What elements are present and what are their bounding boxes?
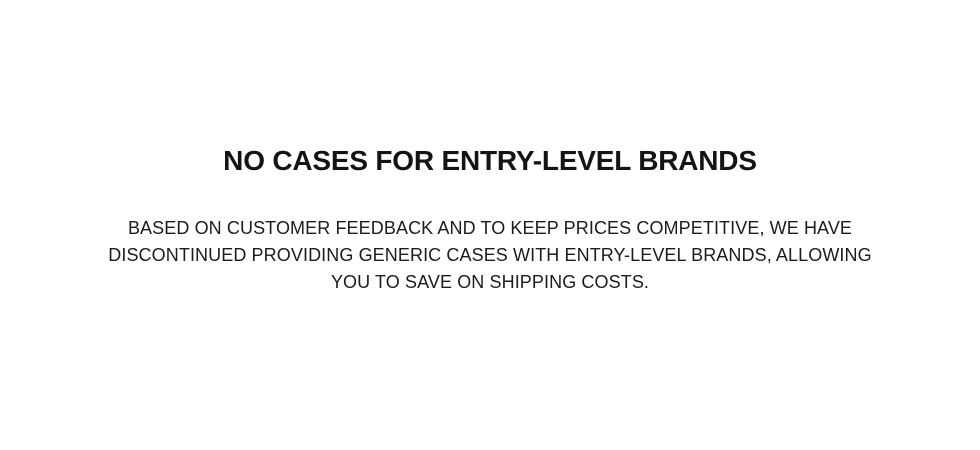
info-banner-section: NO CASES FOR ENTRY-LEVEL BRANDS BASED ON… (0, 0, 980, 450)
description-line: BASED ON CUSTOMER FEEDBACK AND TO KEEP P… (90, 215, 890, 242)
description-line: YOU TO SAVE ON SHIPPING COSTS. (90, 269, 890, 296)
section-description: BASED ON CUSTOMER FEEDBACK AND TO KEEP P… (0, 178, 980, 296)
description-line: DISCONTINUED PROVIDING GENERIC CASES WIT… (90, 242, 890, 269)
text-content-block: NO CASES FOR ENTRY-LEVEL BRANDS BASED ON… (0, 0, 980, 296)
section-heading: NO CASES FOR ENTRY-LEVEL BRANDS (0, 144, 980, 178)
